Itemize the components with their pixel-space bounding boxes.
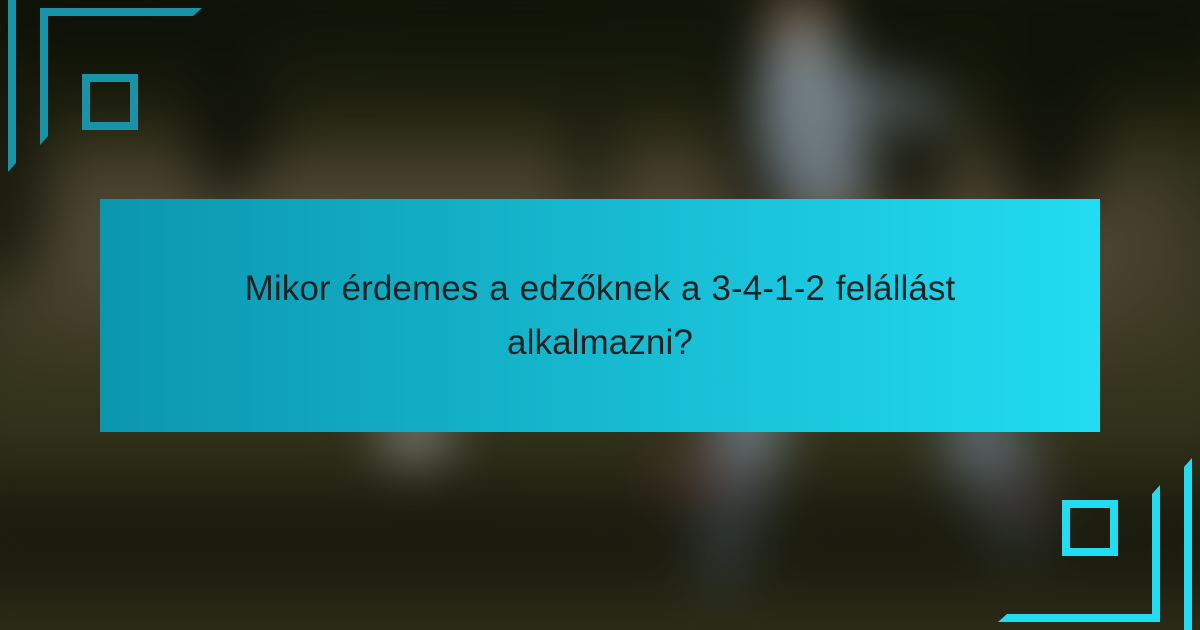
- bracket-vertical-outer: [8, 0, 16, 163]
- social-share-card: Mikor érdemes a edzőknek a 3-4-1-2 felál…: [0, 0, 1200, 630]
- bracket-vertical-inner-tip: [40, 136, 48, 145]
- bracket-vertical-inner: [40, 8, 48, 136]
- bracket-vertical-inner: [1152, 494, 1160, 622]
- bracket-square-accent: [1062, 500, 1118, 556]
- bracket-vertical-outer-tip: [1184, 458, 1192, 467]
- bracket-vertical-outer-tip: [8, 163, 16, 172]
- title-banner: Mikor érdemes a edzőknek a 3-4-1-2 felál…: [100, 199, 1100, 432]
- bracket-horizontal-outer-tip: [998, 614, 1007, 622]
- page-title: Mikor érdemes a edzőknek a 3-4-1-2 felál…: [156, 262, 1044, 368]
- bracket-vertical-inner-tip: [1152, 485, 1160, 494]
- bracket-horizontal-outer-tip: [193, 8, 202, 16]
- bracket-square-accent: [82, 74, 138, 130]
- bracket-horizontal-outer: [48, 8, 193, 16]
- bracket-vertical-outer: [1184, 467, 1192, 630]
- bracket-horizontal-outer: [1007, 614, 1152, 622]
- corner-bracket-top-left: [0, 0, 260, 200]
- corner-bracket-bottom-right: [940, 430, 1200, 630]
